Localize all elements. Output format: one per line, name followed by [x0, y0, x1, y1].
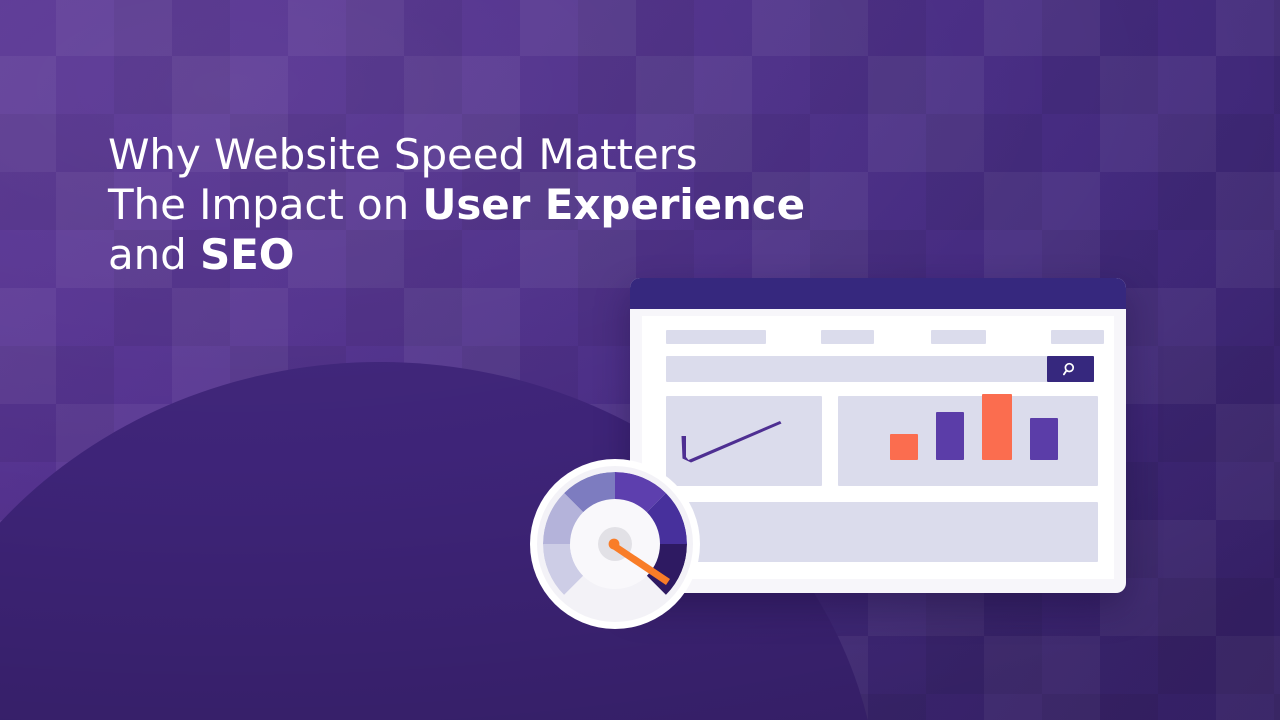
headline-line-2-normal: The Impact on [108, 180, 422, 229]
speedometer-gauge [529, 458, 701, 630]
bar-3 [982, 394, 1012, 460]
nav-placeholder-1[interactable] [666, 330, 766, 344]
nav-placeholder-3[interactable] [931, 330, 986, 344]
browser-search-row [666, 356, 1094, 382]
banner-canvas: Why Website Speed Matters The Impact on … [0, 0, 1280, 720]
browser-window-illustration [630, 278, 1126, 593]
browser-page-area [642, 316, 1114, 579]
nav-placeholder-4[interactable] [1051, 330, 1104, 344]
headline-line-3-normal: and [108, 230, 200, 279]
search-button[interactable] [1047, 356, 1094, 382]
headline-line-3-bold: SEO [200, 230, 294, 279]
chart-panel [838, 396, 1098, 486]
headline-line-1: Why Website Speed Matters [108, 130, 868, 180]
headline-line-2-bold: User Experience [422, 180, 805, 229]
bar-chart [838, 396, 1098, 486]
bar-1 [890, 434, 918, 460]
page-title: Why Website Speed Matters The Impact on … [108, 130, 868, 280]
footer-panel [666, 502, 1098, 562]
headline-line-3: and SEO [108, 230, 868, 280]
headline-line-2: The Impact on User Experience [108, 180, 868, 230]
nav-placeholder-2[interactable] [821, 330, 874, 344]
browser-nav-row [666, 330, 1094, 344]
search-input[interactable] [666, 356, 1094, 382]
bar-2 [936, 412, 964, 460]
search-icon [1062, 361, 1079, 378]
bar-4 [1030, 418, 1058, 460]
browser-titlebar [630, 278, 1126, 309]
